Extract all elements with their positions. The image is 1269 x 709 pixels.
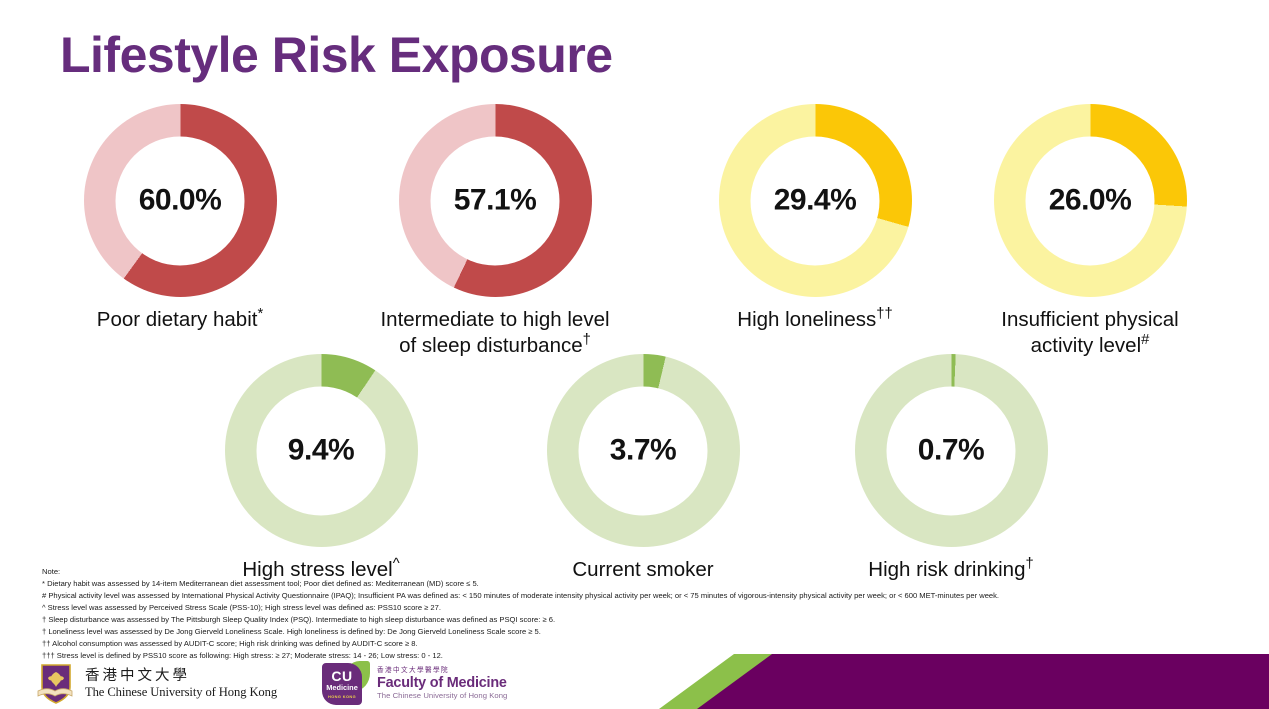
donut-caption-sleep-disturbance: Intermediate to high levelof sleep distu… — [370, 307, 620, 359]
donut-ring-high-loneliness: 29.4% — [719, 104, 912, 297]
donut-center: 57.1% — [431, 136, 560, 265]
donut-card-current-smoker[interactable]: 3.7% Current smoker — [518, 354, 768, 583]
footnote-line: ^ Stress level was assessed by Perceived… — [42, 602, 1257, 614]
footnote-heading: Note: — [42, 566, 1257, 578]
cu-medicine-name-zh: 香港中文大學醫學院 — [377, 667, 507, 674]
slide-canvas: Lifestyle Risk Exposure 60.0% Poor dieta… — [0, 0, 1269, 709]
page-title: Lifestyle Risk Exposure — [60, 26, 613, 84]
cu-medicine-badge-medicine: Medicine — [326, 684, 358, 693]
donut-caption-high-loneliness: High loneliness†† — [690, 307, 940, 333]
cu-medicine-subtitle: The Chinese University of Hong Kong — [377, 692, 507, 701]
cuhk-crest-icon — [36, 662, 76, 706]
donut-value-label: 9.4% — [288, 434, 354, 468]
donut-center: 3.7% — [579, 386, 708, 515]
donut-caption-marker: * — [257, 306, 263, 322]
donut-caption-insufficient-physical-activity: Insufficient physicalactivity level# — [965, 307, 1215, 359]
cuhk-name-zh: 香港中文大學 — [85, 669, 277, 684]
donut-row-bottom: 9.4% High stress level^ 3.7% Current smo… — [0, 354, 1269, 574]
donut-caption-text: Poor dietary habit — [97, 308, 258, 331]
donut-caption-line1: Insufficient physical — [1001, 308, 1178, 331]
cu-medicine-badge-cu: CU — [331, 669, 352, 683]
donut-caption-marker: † — [583, 332, 591, 348]
cuhk-logo-text: 香港中文大學 The Chinese University of Hong Ko… — [85, 669, 277, 698]
donut-card-sleep-disturbance[interactable]: 57.1% Intermediate to high levelof sleep… — [370, 104, 620, 359]
donut-card-high-risk-drinking[interactable]: 0.7% High risk drinking† — [826, 354, 1076, 583]
donut-value-label: 0.7% — [918, 434, 984, 468]
donut-value-label: 57.1% — [454, 184, 537, 218]
footnote-line: # Physical activity level was assessed b… — [42, 590, 1257, 602]
cu-medicine-badge-hongkong: HONG KONG — [328, 694, 356, 699]
cu-medicine-logo: CU Medicine HONG KONG 香港中文大學醫學院 Faculty … — [322, 661, 507, 707]
footnote-line: † Loneliness level was assessed by De Jo… — [42, 626, 1257, 638]
donut-center: 26.0% — [1026, 136, 1155, 265]
cu-medicine-logo-text: 香港中文大學醫學院 Faculty of Medicine The Chines… — [377, 667, 507, 701]
donut-ring-high-risk-drinking: 0.7% — [855, 354, 1048, 547]
donut-caption-line1: Intermediate to high level — [380, 308, 609, 331]
donut-value-label: 29.4% — [774, 184, 857, 218]
footnote-line: * Dietary habit was assessed by 14-item … — [42, 578, 1257, 590]
donut-caption-text: High loneliness — [737, 308, 876, 331]
donut-center: 60.0% — [116, 136, 245, 265]
donut-row-top: 60.0% Poor dietary habit* 57.1% Intermed… — [0, 104, 1269, 354]
cuhk-logo: 香港中文大學 The Chinese University of Hong Ko… — [36, 662, 277, 706]
donut-card-high-stress-level[interactable]: 9.4% High stress level^ — [196, 354, 446, 583]
cuhk-name-en: The Chinese University of Hong Kong — [85, 686, 277, 699]
donut-card-poor-dietary-habit[interactable]: 60.0% Poor dietary habit* — [55, 104, 305, 333]
donut-value-label: 60.0% — [139, 184, 222, 218]
footnote-block: Note: * Dietary habit was assessed by 14… — [42, 566, 1257, 662]
donut-ring-sleep-disturbance: 57.1% — [399, 104, 592, 297]
donut-caption-marker: †† — [876, 306, 892, 322]
donut-ring-poor-dietary-habit: 60.0% — [84, 104, 277, 297]
cu-medicine-badge: CU Medicine HONG KONG — [322, 663, 362, 705]
donut-caption-poor-dietary-habit: Poor dietary habit* — [55, 307, 305, 333]
cu-medicine-mark-icon: CU Medicine HONG KONG — [322, 661, 370, 707]
donut-center: 29.4% — [751, 136, 880, 265]
donut-center: 9.4% — [257, 386, 386, 515]
donut-caption-marker: # — [1141, 332, 1149, 348]
footnote-line: † Sleep disturbance was assessed by The … — [42, 614, 1257, 626]
donut-ring-current-smoker: 3.7% — [547, 354, 740, 547]
donut-card-insufficient-physical-activity[interactable]: 26.0% Insufficient physicalactivity leve… — [965, 104, 1215, 359]
footnote-line: †† Alcohol consumption was assessed by A… — [42, 638, 1257, 650]
donut-card-high-loneliness[interactable]: 29.4% High loneliness†† — [690, 104, 940, 333]
donut-value-label: 26.0% — [1049, 184, 1132, 218]
corner-decoration-shape — [659, 654, 1269, 709]
donut-ring-high-stress-level: 9.4% — [225, 354, 418, 547]
donut-chart-grid: 60.0% Poor dietary habit* 57.1% Intermed… — [0, 104, 1269, 574]
donut-center: 0.7% — [887, 386, 1016, 515]
cu-medicine-title: Faculty of Medicine — [377, 675, 507, 691]
donut-value-label: 3.7% — [610, 434, 676, 468]
donut-ring-insufficient-physical-activity: 26.0% — [994, 104, 1187, 297]
